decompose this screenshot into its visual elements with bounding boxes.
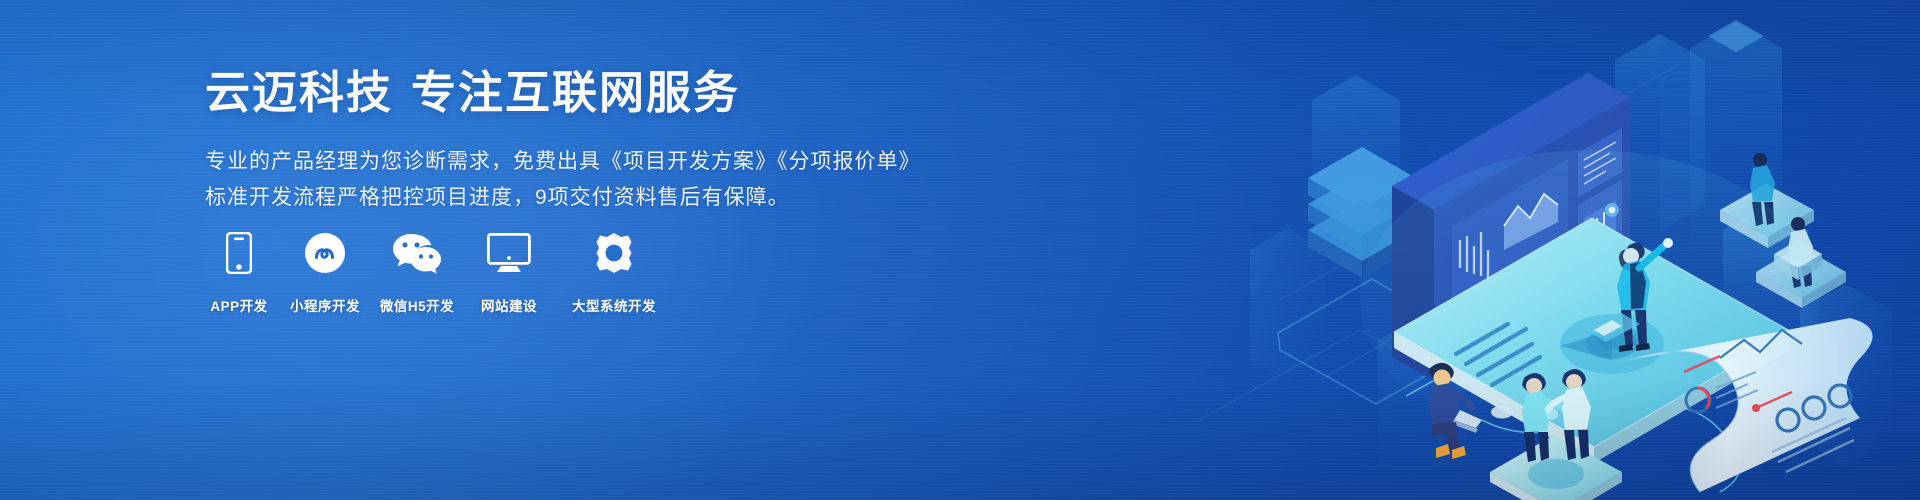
monitor-icon [487, 230, 531, 276]
page-title: 云迈科技专注互联网服务 [205, 66, 925, 119]
isometric-illustration [1160, 0, 1920, 500]
service-item-miniprogram[interactable]: 小程序开发 [289, 230, 361, 315]
banner-copy: 云迈科技专注互联网服务 专业的产品经理为您诊断需求，免费出具《项目开发方案》《分… [205, 66, 925, 215]
hero-banner: 云迈科技专注互联网服务 专业的产品经理为您诊断需求，免费出具《项目开发方案》《分… [0, 0, 1920, 500]
subtitle-line-2: 标准开发流程严格把控项目进度，9项交付资料售后有保障。 [205, 181, 925, 215]
service-label-wechat: 微信H5开发 [369, 295, 465, 315]
service-icon-row: APP开发 小程序开发 微信 [203, 230, 669, 315]
service-item-website[interactable]: 网站建设 [473, 230, 545, 315]
service-label-system: 大型系统开发 [555, 295, 673, 315]
gear-icon [593, 230, 635, 276]
mini-program-icon [304, 230, 346, 276]
service-label-miniprogram: 小程序开发 [277, 295, 373, 315]
mobile-phone-icon [226, 230, 252, 276]
service-label-app: APP开发 [210, 295, 267, 315]
service-label-website: 网站建设 [461, 295, 557, 315]
wechat-icon [392, 230, 442, 276]
subtitle-line-1: 专业的产品经理为您诊断需求，免费出具《项目开发方案》《分项报价单》 [205, 145, 925, 179]
service-item-wechat[interactable]: 微信H5开发 [375, 230, 459, 315]
service-item-app[interactable]: APP开发 [203, 230, 275, 315]
service-item-system[interactable]: 大型系统开发 [559, 230, 669, 315]
headline-tagline: 专注互联网服务 [411, 67, 740, 118]
headline-brand: 云迈科技 [205, 67, 393, 118]
